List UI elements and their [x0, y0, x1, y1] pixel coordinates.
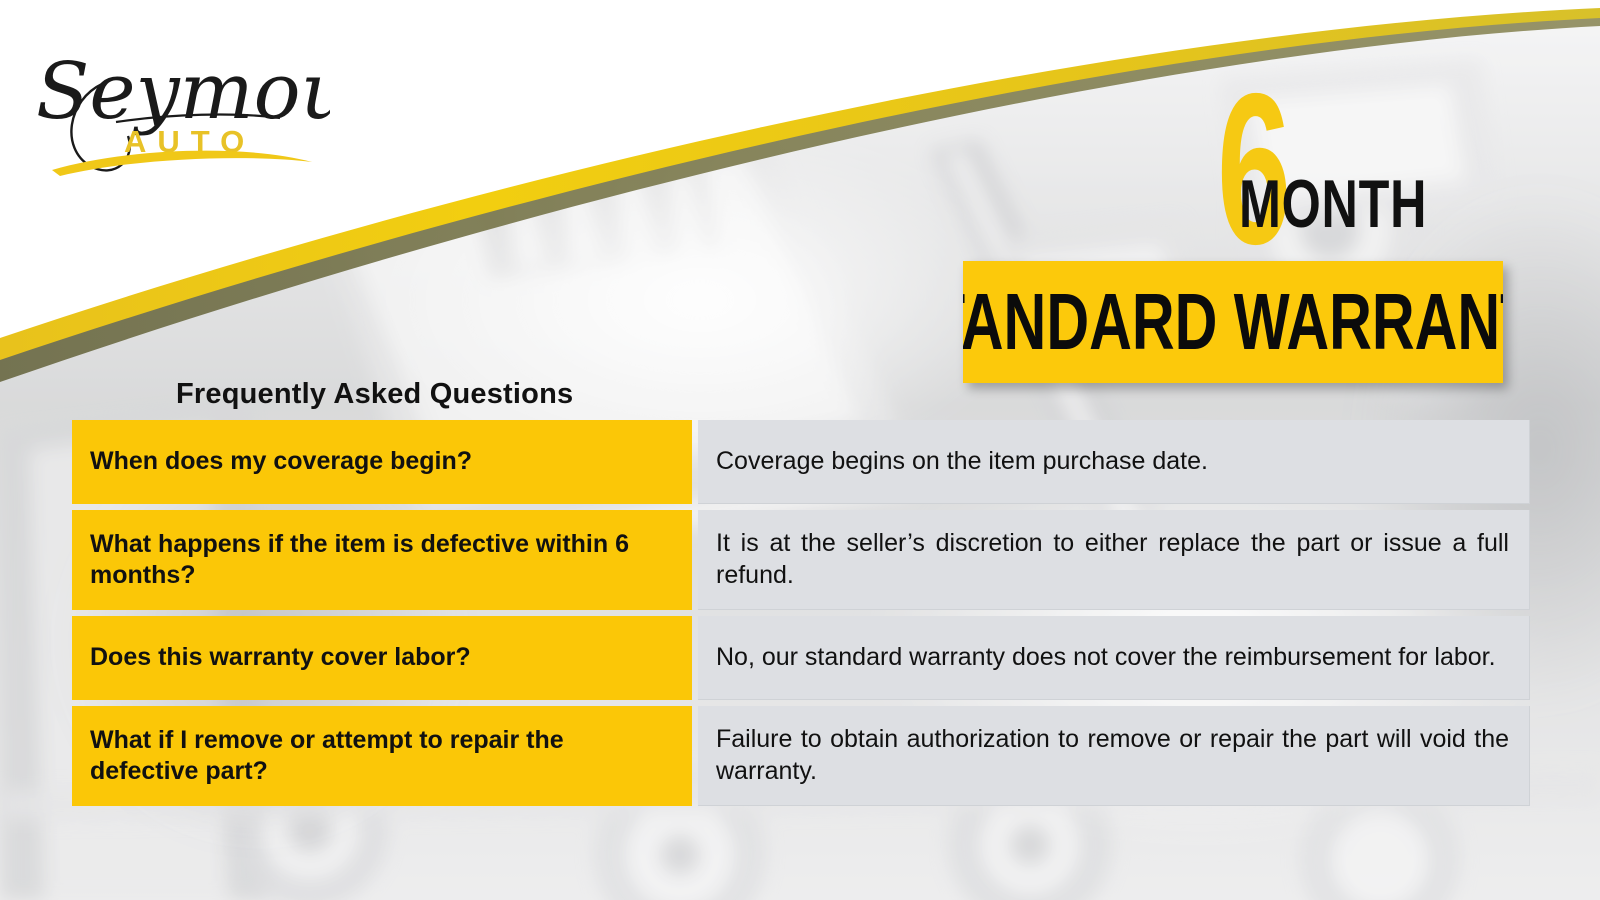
term-badge: 6 MONTH — [1205, 78, 1535, 253]
faq-answer-text: Failure to obtain authorization to remov… — [716, 724, 1509, 787]
faq-question-text: When does my coverage begin? — [90, 446, 472, 478]
faq-question-text: Does this warranty cover labor? — [90, 642, 471, 674]
faq-question-cell: What happens if the item is defective wi… — [72, 510, 692, 610]
term-period: MONTH — [1239, 177, 1427, 231]
faq-answer-text: It is at the seller’s discretion to eith… — [716, 528, 1509, 591]
table-row: Does this warranty cover labor? No, our … — [72, 616, 1530, 700]
faq-answer-cell: It is at the seller’s discretion to eith… — [698, 510, 1530, 610]
warranty-slide: Seymour AUTO 6 MONTH STANDARD WARRANTY F… — [0, 0, 1600, 900]
faq-question-cell: Does this warranty cover labor? — [72, 616, 692, 700]
faq-question-text: What happens if the item is defective wi… — [90, 529, 674, 592]
faq-question-cell: What if I remove or attempt to repair th… — [72, 706, 692, 806]
warranty-banner: STANDARD WARRANTY — [963, 261, 1503, 383]
faq-table: When does my coverage begin? Coverage be… — [72, 420, 1530, 806]
faq-answer-cell: Coverage begins on the item purchase dat… — [698, 420, 1530, 504]
table-row: What if I remove or attempt to repair th… — [72, 706, 1530, 806]
warranty-banner-text: STANDARD WARRANTY — [963, 282, 1503, 362]
faq-answer-text: No, our standard warranty does not cover… — [716, 642, 1509, 674]
faq-question-cell: When does my coverage begin? — [72, 420, 692, 504]
faq-answer-text: Coverage begins on the item purchase dat… — [716, 446, 1509, 478]
faq-answer-cell: Failure to obtain authorization to remov… — [698, 706, 1530, 806]
faq-question-text: What if I remove or attempt to repair th… — [90, 725, 674, 788]
seymour-auto-logo: Seymour AUTO — [30, 22, 330, 182]
table-row: When does my coverage begin? Coverage be… — [72, 420, 1530, 504]
faq-answer-cell: No, our standard warranty does not cover… — [698, 616, 1530, 700]
faq-heading: Frequently Asked Questions — [176, 378, 573, 411]
table-row: What happens if the item is defective wi… — [72, 510, 1530, 610]
